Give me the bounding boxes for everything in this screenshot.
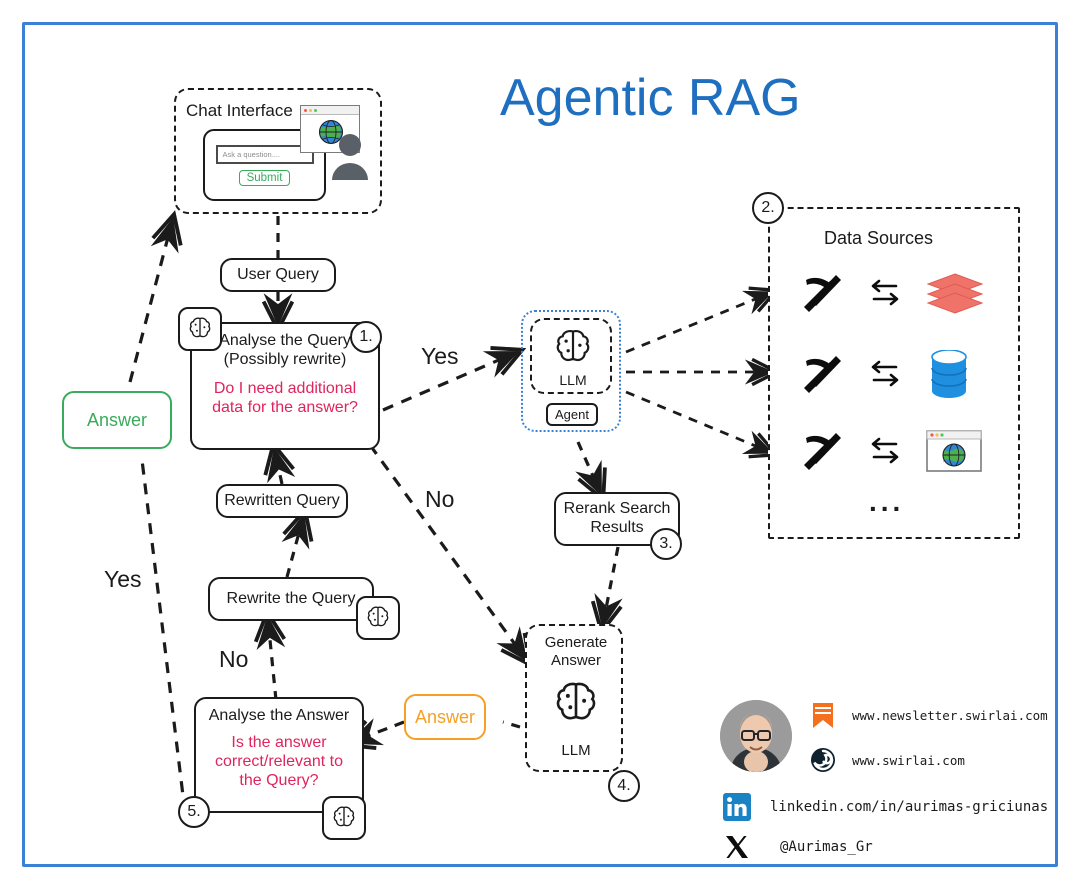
rerank-line2: Results	[590, 519, 643, 538]
user-avatar-icon	[330, 132, 370, 180]
step-badge-4: 4.	[608, 770, 640, 802]
layers-icon	[926, 272, 984, 314]
generate-line1: Generate	[527, 634, 625, 652]
web-browser-icon	[926, 430, 982, 472]
analyse-answer-title: Analyse the Answer	[209, 707, 350, 726]
analyse-query-line1: Analyse the Query	[219, 332, 351, 351]
author-avatar	[720, 700, 792, 772]
browser-titlebar	[301, 106, 359, 115]
agent-llm-label: LLM	[532, 372, 614, 388]
analyse-answer-question: Is the answer correct/relevant to the Qu…	[202, 733, 356, 791]
submit-button[interactable]: Submit	[239, 170, 291, 186]
brain-icon	[356, 596, 400, 640]
search-input[interactable]: Ask a question....	[216, 145, 314, 164]
linkedin-icon	[722, 792, 752, 822]
chat-interface-label: Chat Interface	[186, 101, 293, 121]
brain-icon	[178, 307, 222, 351]
edge-label-no-middle: No	[425, 486, 454, 513]
node-rewritten-query[interactable]: Rewritten Query	[216, 484, 348, 518]
footer-link-linkedin[interactable]: linkedin.com/in/aurimas-griciunas	[722, 792, 1048, 822]
edge-label-yes-left: Yes	[104, 566, 142, 593]
page-title: Agentic RAG	[500, 68, 801, 128]
agent-badge[interactable]: Agent	[546, 403, 598, 426]
step-badge-2: 2.	[752, 192, 784, 224]
node-rewrite-the-query[interactable]: Rewrite the Query	[208, 577, 374, 621]
newsletter-bookmark-icon	[808, 700, 838, 730]
node-generate-answer[interactable]: Generate Answer LLM	[525, 624, 623, 772]
bidirectional-arrows-icon	[866, 278, 904, 308]
answer-label: Answer	[87, 410, 147, 431]
answer-label: Answer	[415, 707, 475, 728]
answer-pill-orange[interactable]: Answer	[404, 694, 486, 740]
hammer-pickaxe-icon	[800, 353, 844, 395]
node-label: Rewrite the Query	[227, 590, 356, 609]
node-user-query[interactable]: User Query	[220, 258, 336, 292]
footer-link-text: www.newsletter.swirlai.com	[852, 708, 1048, 723]
x-twitter-icon	[722, 832, 752, 862]
hammer-pickaxe-icon	[800, 430, 844, 472]
step-badge-1: 1.	[350, 321, 382, 353]
edge-label-no-lower: No	[219, 646, 248, 673]
node-label: User Query	[237, 266, 319, 285]
footer-link-website[interactable]: www.swirlai.com	[808, 745, 965, 775]
data-source-row[interactable]	[800, 272, 984, 314]
footer-link-text: linkedin.com/in/aurimas-griciunas	[770, 799, 1048, 815]
brain-icon	[549, 678, 603, 730]
swirl-spiral-icon	[808, 745, 838, 775]
data-sources-ellipsis: ...	[869, 486, 904, 518]
node-label: Rewritten Query	[224, 492, 340, 511]
data-sources-label: Data Sources	[824, 228, 933, 249]
footer-link-text: @Aurimas_Gr	[780, 839, 873, 855]
footer-link-newsletter[interactable]: www.newsletter.swirlai.com	[808, 700, 1048, 730]
data-source-row[interactable]	[800, 350, 972, 398]
rerank-line1: Rerank Search	[564, 500, 671, 519]
database-icon	[926, 350, 972, 398]
agent-label: Agent	[555, 407, 589, 422]
step-badge-3: 3.	[650, 528, 682, 560]
step-badge-5: 5.	[178, 796, 210, 828]
brain-icon	[550, 326, 596, 370]
bidirectional-arrows-icon	[866, 359, 904, 389]
brain-icon	[322, 796, 366, 840]
footer-link-text: www.swirlai.com	[852, 753, 965, 768]
analyse-query-line2: (Possibly rewrite)	[219, 351, 351, 370]
data-source-row[interactable]	[800, 430, 982, 472]
generate-line2: Answer	[527, 652, 625, 670]
answer-pill-green[interactable]: Answer	[62, 391, 172, 449]
edge-label-yes-top: Yes	[421, 343, 459, 370]
hammer-pickaxe-icon	[800, 272, 844, 314]
generate-llm-label: LLM	[527, 742, 625, 759]
diagram-canvas: Agentic RAG Chat Interface Ask a questio…	[0, 0, 1080, 889]
agent-llm-box[interactable]: LLM	[530, 318, 612, 394]
analyse-query-question: Do I need additional data for the answer…	[199, 379, 371, 417]
bidirectional-arrows-icon	[866, 436, 904, 466]
footer-link-x[interactable]: @Aurimas_Gr	[722, 832, 873, 862]
